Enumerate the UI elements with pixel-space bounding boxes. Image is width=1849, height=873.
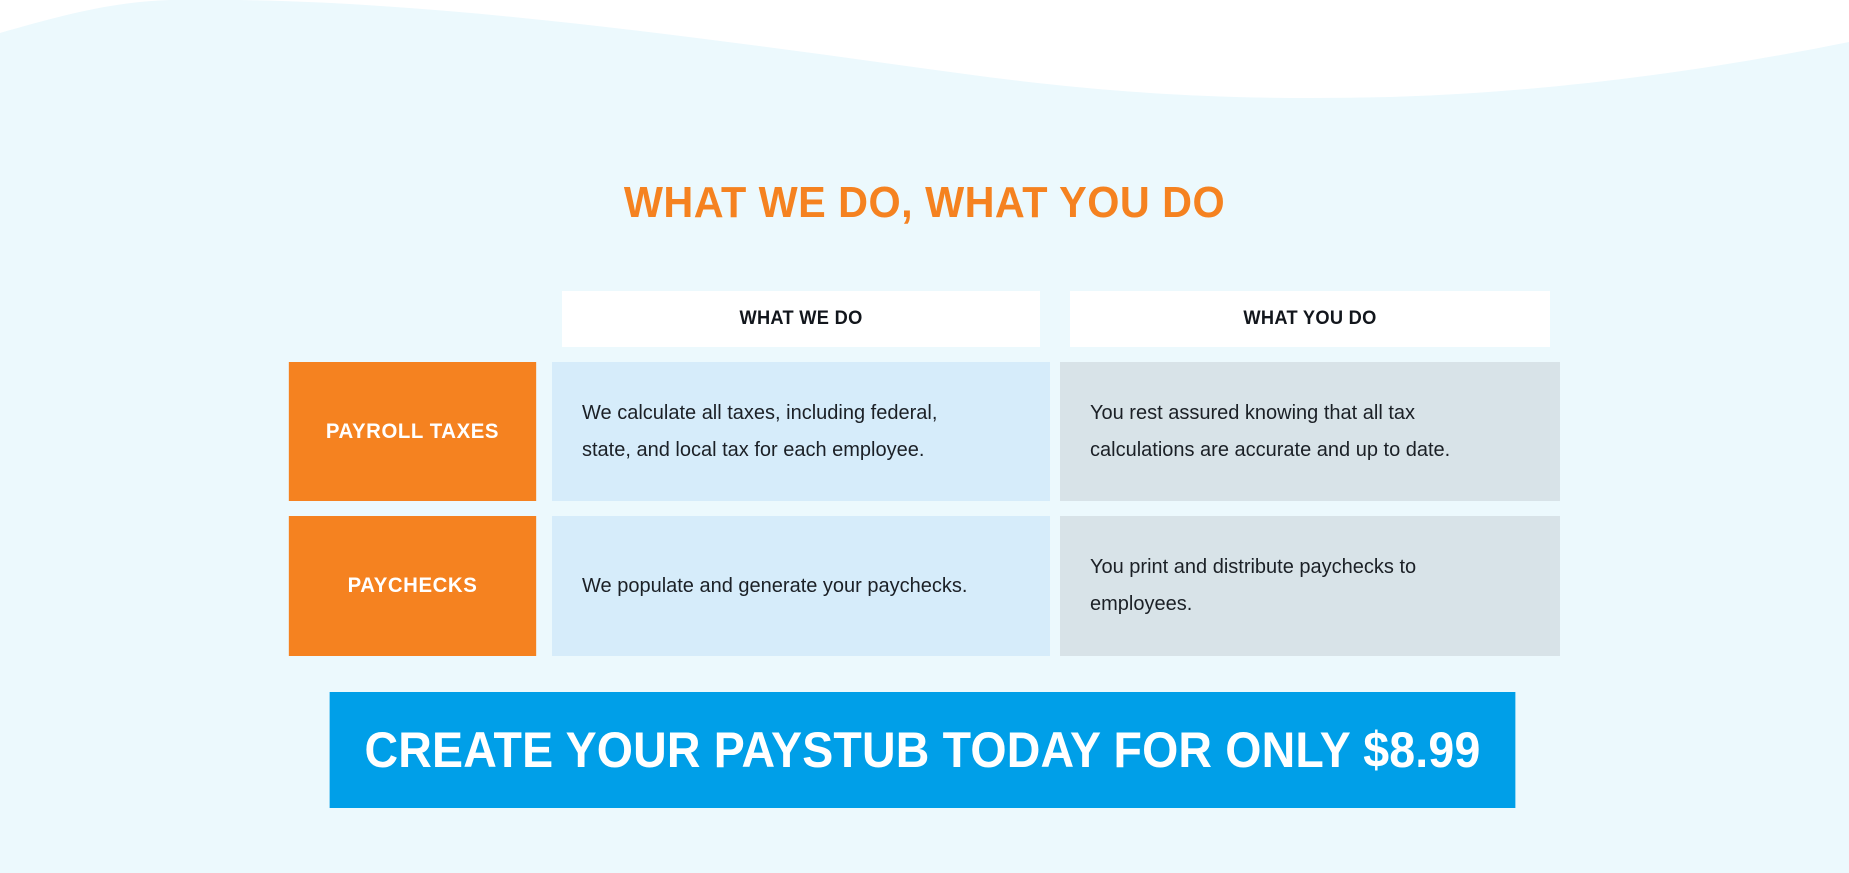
cell-we-do-paychecks: We populate and generate your paychecks. xyxy=(552,516,1050,656)
column-gap xyxy=(1050,291,1060,347)
page-root: WHAT WE DO, WHAT YOU DO WHAT WE DO WHAT … xyxy=(0,0,1849,873)
row-gap xyxy=(285,347,1560,362)
column-gap xyxy=(1050,516,1060,656)
cell-line: employees. xyxy=(1090,586,1416,623)
column-gap xyxy=(540,362,552,501)
cell-line: We calculate all taxes, including federa… xyxy=(582,395,937,432)
row-gap xyxy=(285,501,1560,516)
cell-you-do-paychecks: You print and distribute paychecks to em… xyxy=(1060,516,1560,656)
page-title: WHAT WE DO, WHAT YOU DO xyxy=(55,178,1793,228)
cell-line: calculations are accurate and up to date… xyxy=(1090,432,1450,469)
comparison-table: WHAT WE DO WHAT YOU DO PAYROLL TAXES We … xyxy=(285,291,1560,656)
top-wave-decoration xyxy=(0,0,1849,140)
cell-you-do-payroll-taxes: You rest assured knowing that all tax ca… xyxy=(1060,362,1560,501)
cell-line: You print and distribute paychecks to xyxy=(1090,549,1416,586)
cell-line: We populate and generate your paychecks. xyxy=(582,568,967,605)
table-header-corner xyxy=(285,291,540,347)
table-row: PAYROLL TAXES We calculate all taxes, in… xyxy=(285,362,1560,501)
column-gap xyxy=(1050,362,1060,501)
table-header-row: WHAT WE DO WHAT YOU DO xyxy=(285,291,1560,347)
cell-we-do-payroll-taxes: We calculate all taxes, including federa… xyxy=(552,362,1050,501)
cell-line: You rest assured knowing that all tax xyxy=(1090,395,1450,432)
table-header-what-you-do: WHAT YOU DO xyxy=(1070,291,1550,347)
column-gap xyxy=(540,291,552,347)
table-header-what-we-do: WHAT WE DO xyxy=(562,291,1040,347)
create-paystub-cta-button[interactable]: CREATE YOUR PAYSTUB TODAY FOR ONLY $8.99 xyxy=(330,692,1516,808)
cell-line: state, and local tax for each employee. xyxy=(582,432,937,469)
table-row: PAYCHECKS We populate and generate your … xyxy=(285,516,1560,656)
column-gap xyxy=(540,516,552,656)
row-label-paychecks: PAYCHECKS xyxy=(289,516,536,656)
row-label-payroll-taxes: PAYROLL TAXES xyxy=(289,362,536,501)
